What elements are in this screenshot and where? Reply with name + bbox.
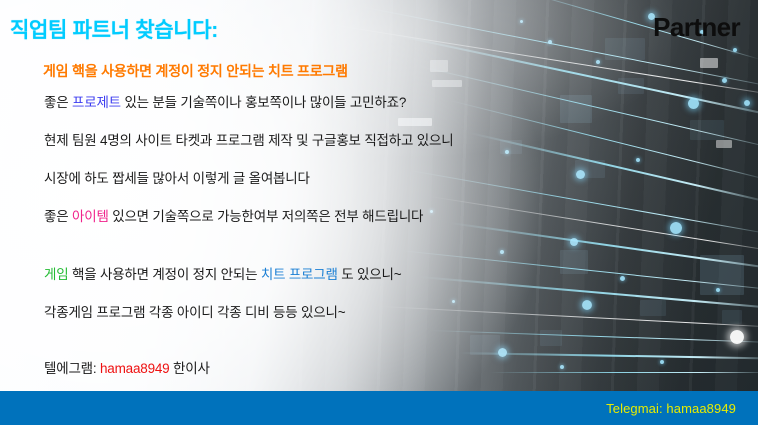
body-line-3: 시장에 하도 짭세들 많아서 이렇게 글 올여봅니다: [44, 170, 744, 208]
page-title: 직업팀 파트너 찾습니다:: [10, 14, 218, 44]
body-line-2-text: 현제 팀원 4명의 사이트 타켓과 프로그램 제작 및 구글홍보 직접하고 있으…: [44, 133, 453, 148]
body-line-6-text: 각종게임 프로그램 각종 아이디 각종 디비 등등 있으니~: [44, 305, 345, 320]
promotional-slide: 직업팀 파트너 찾습니다: Partner 게임 핵을 사용하면 계정이 정지 …: [0, 0, 758, 425]
body-line-5: 게임 핵을 사용하면 계정이 정지 안되는 치트 프로그램 도 있으니~: [44, 266, 744, 304]
contact-name: 한이사: [170, 361, 210, 376]
telegram-handle[interactable]: hamaa8949: [100, 361, 170, 376]
body-line-4-part-a: 좋은: [44, 209, 72, 224]
body-line-5-part-b: 도 있으니~: [338, 267, 402, 282]
brand-logo: Partner: [653, 12, 740, 43]
keyword-item: 아이템: [72, 209, 109, 224]
body-line-1-part-b: 있는 분들 기술쪽이나 홍보쪽이나 많이들 고민하죠?: [121, 95, 406, 110]
body-line-1-part-a: 좋은: [44, 95, 72, 110]
subheading: 게임 핵을 사용하면 계정이 정지 안되는 치트 프로그램: [43, 61, 348, 81]
body-text-block: 좋은 프로제트 있는 분들 기술쪽이나 홍보쪽이나 많이들 고민하죠? 현제 팀…: [44, 94, 744, 398]
body-line-4-part-b: 있으면 기술쪽으로 가능한여부 저의쪽은 전부 해드립니다: [109, 209, 424, 224]
body-line-1: 좋은 프로제트 있는 분들 기술쪽이나 홍보쪽이나 많이들 고민하죠?: [44, 94, 744, 132]
body-line-3-text: 시장에 하도 짭세들 많아서 이렇게 글 올여봅니다: [44, 171, 310, 186]
body-line-6: 각종게임 프로그램 각종 아이디 각종 디비 등등 있으니~: [44, 304, 744, 360]
body-line-5-part-a: 핵을 사용하면 계정이 정지 안되는: [68, 267, 260, 282]
body-line-2: 현제 팀원 4명의 사이트 타켓과 프로그램 제작 및 구글홍보 직접하고 있으…: [44, 132, 744, 170]
contact-label: 텔에그램:: [44, 361, 100, 376]
footer-telegram-contact[interactable]: Telegmai: hamaa8949: [606, 401, 758, 416]
footer-bar: Telegmai: hamaa8949: [0, 391, 758, 425]
keyword-project: 프로제트: [72, 95, 121, 110]
slide-content: 직업팀 파트너 찾습니다: Partner 게임 핵을 사용하면 계정이 정지 …: [0, 0, 758, 425]
keyword-game: 게임: [44, 267, 68, 282]
keyword-cheat-program: 치트 프로그램: [261, 267, 338, 282]
body-line-4: 좋은 아이템 있으면 기술쪽으로 가능한여부 저의쪽은 전부 해드립니다: [44, 208, 744, 266]
